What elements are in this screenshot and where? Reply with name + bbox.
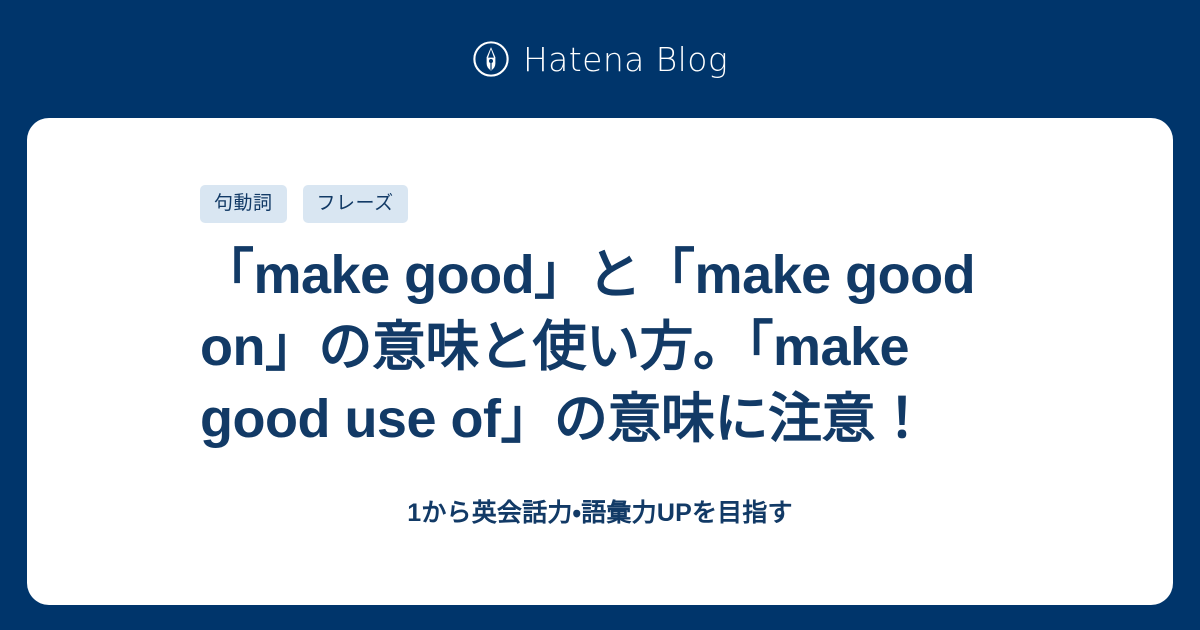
pen-nib-in-circle-icon (472, 40, 510, 78)
entry-title[interactable]: 「make good」と「make good on」の意味と使い方。「make … (200, 239, 1000, 455)
entry-tag[interactable]: 句動詞 (200, 185, 287, 223)
hatena-blog-logo[interactable]: Hatena Blog (472, 40, 728, 78)
entry-card-content: 句動詞 フレーズ 「make good」と「make good on」の意味と使… (200, 118, 1000, 530)
ogp-card-canvas: Hatena Blog 句動詞 フレーズ 「make good」と「make g… (0, 0, 1200, 630)
brand-bar: Hatena Blog (0, 0, 1200, 118)
entry-tag[interactable]: フレーズ (303, 185, 408, 223)
brand-wordmark: Hatena Blog (523, 43, 728, 76)
entry-card: 句動詞 フレーズ 「make good」と「make good on」の意味と使… (27, 118, 1173, 605)
entry-tag-list: 句動詞 フレーズ (200, 185, 408, 223)
blog-name[interactable]: 1から英会話力・語彙力UPを目指す (407, 497, 793, 530)
blog-name-row: 1から英会話力・語彙力UPを目指す (200, 497, 1000, 530)
